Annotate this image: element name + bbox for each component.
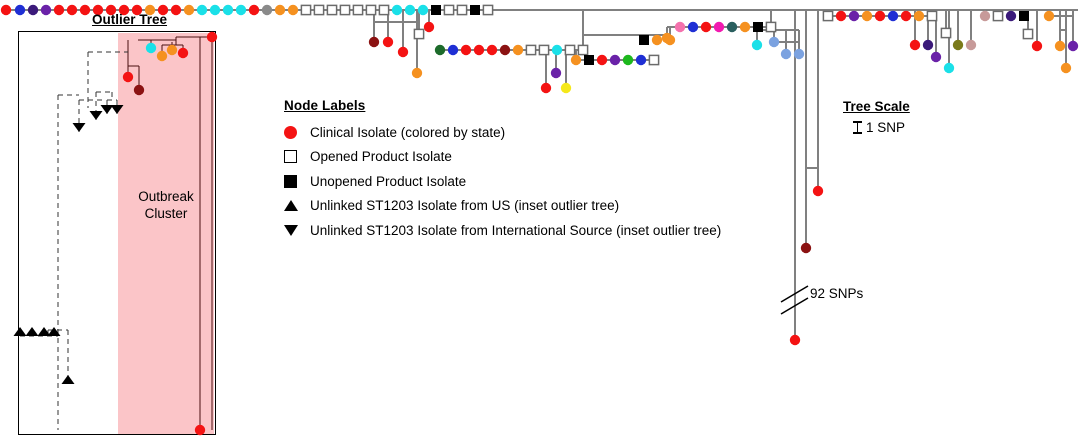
legend-item-label: Clinical Isolate (colored by state) — [310, 126, 505, 140]
triangle-up-icon — [14, 327, 27, 336]
open-square-icon — [284, 150, 310, 163]
legend-item-label: Opened Product Isolate — [310, 150, 452, 164]
tip-circle — [157, 51, 167, 61]
legend-item-unlinked-international: Unlinked ST1203 Isolate from Internation… — [284, 218, 724, 243]
legend-item-label: Unlinked ST1203 Isolate from US (inset o… — [310, 199, 619, 213]
tree-scale-row: 1 SNP — [843, 120, 910, 135]
triangle-down-icon — [111, 105, 124, 114]
triangle-up-icon — [26, 327, 39, 336]
tree-scale-title: Tree Scale — [843, 99, 910, 114]
scale-bar-icon — [853, 121, 862, 134]
legend-item-label: Unopened Product Isolate — [310, 175, 466, 189]
triangle-down-icon — [73, 123, 86, 132]
triangle-down-icon — [284, 225, 310, 236]
inset-solid-branches — [128, 37, 212, 430]
inset-tree-tip-group — [14, 32, 218, 435]
legend-item-opened-product: Opened Product Isolate — [284, 145, 724, 170]
triangle-up-icon — [62, 375, 75, 384]
legend-item-unlinked-us: Unlinked ST1203 Isolate from US (inset o… — [284, 194, 724, 219]
legend: Node Labels Clinical Isolate (colored by… — [284, 98, 724, 243]
tip-circle — [207, 32, 217, 42]
filled-square-icon — [284, 175, 310, 188]
legend-item-clinical-isolate: Clinical Isolate (colored by state) — [284, 120, 724, 145]
phylogenetic-tree-figure: Outlier Tree Outbreak Cluster — [0, 0, 1080, 441]
tip-circle — [134, 85, 144, 95]
triangle-down-icon — [90, 111, 103, 120]
inset-dashed-branches — [20, 52, 128, 430]
tip-circle — [146, 43, 156, 53]
legend-title: Node Labels — [284, 98, 724, 113]
legend-item-label: Unlinked ST1203 Isolate from Internation… — [310, 224, 721, 238]
legend-item-unopened-product: Unopened Product Isolate — [284, 169, 724, 194]
tip-circle — [167, 45, 177, 55]
filled-circle-icon — [284, 126, 310, 139]
tip-circle — [195, 425, 205, 435]
tip-circle — [123, 72, 133, 82]
snp-break-label: 92 SNPs — [810, 286, 863, 301]
triangle-up-icon — [284, 200, 310, 211]
tip-circle — [178, 48, 188, 58]
tree-scale: Tree Scale 1 SNP — [843, 99, 910, 135]
tree-scale-label: 1 SNP — [866, 120, 905, 135]
